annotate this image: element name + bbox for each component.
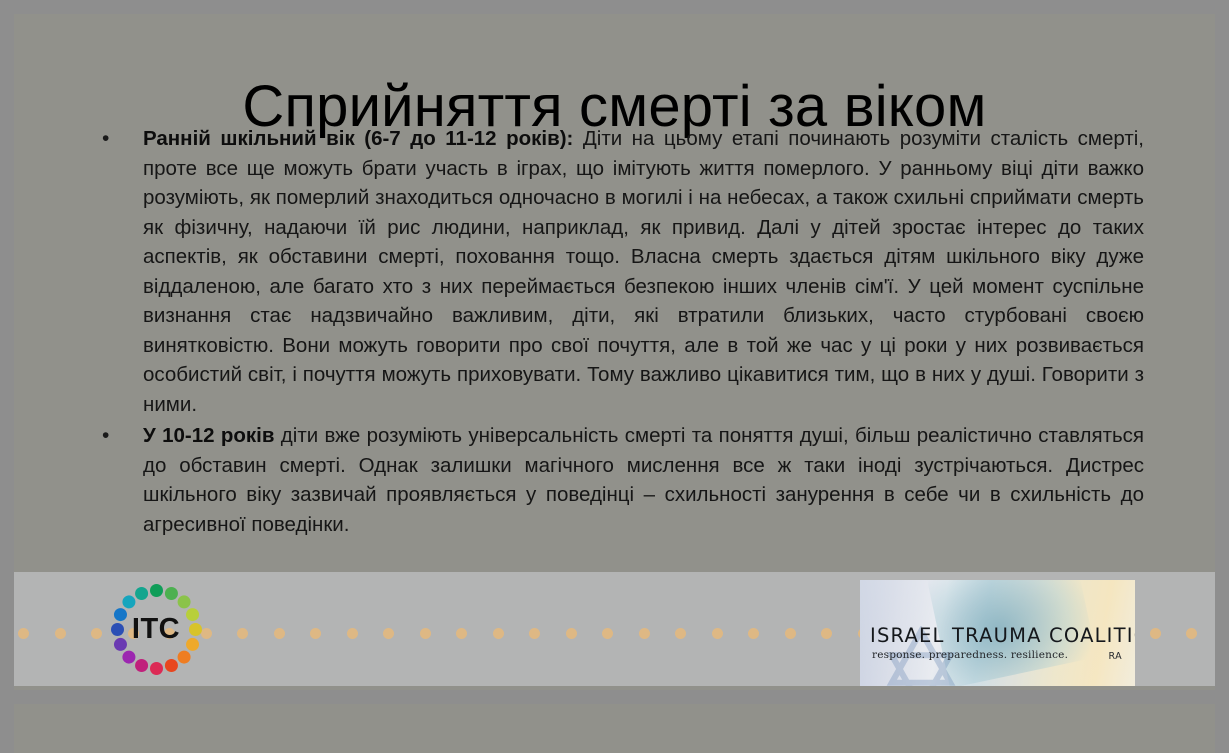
dot (602, 628, 613, 639)
dot (18, 628, 29, 639)
dot (639, 628, 650, 639)
bullet-item-early-school-age: • Ранній шкільний вік (6-7 до 11-12 рокі… (89, 124, 1144, 419)
bullet-paragraph: У 10-12 років діти вже розуміють універс… (143, 421, 1144, 539)
bullet-item-ten-to-twelve: • У 10-12 років діти вже розуміють уніве… (89, 421, 1144, 539)
israel-trauma-coalition-logo: ISRAEL TRAUMA COALITION response. prepar… (860, 580, 1135, 686)
bullet-marker-icon: • (89, 124, 143, 154)
itc-logo: ITC (104, 577, 208, 681)
itc-wordmark: ITC (104, 577, 208, 681)
bullet-body-text: Діти на цьому етапі починають розуміти с… (143, 127, 1144, 416)
dot (310, 628, 321, 639)
dot (821, 628, 832, 639)
slide-next-preview[interactable] (14, 704, 1215, 753)
dot (493, 628, 504, 639)
bullet-paragraph: Ранній шкільний вік (6-7 до 11-12 років)… (143, 124, 1144, 419)
coalition-tagline: response. preparedness. resilience. (872, 649, 1068, 661)
dot (566, 628, 577, 639)
dot (456, 628, 467, 639)
slide-current[interactable]: Сприйняття смерті за віком • Ранній шкіл… (14, 14, 1215, 690)
slide-footer: ITC ISRAEL TRAUMA COALITION response. pr… (14, 572, 1215, 686)
dot (91, 628, 102, 639)
dot (675, 628, 686, 639)
coalition-title: ISRAEL TRAUMA COALITION (870, 624, 1125, 647)
dot (785, 628, 796, 639)
slide-body: • Ранній шкільний вік (6-7 до 11-12 рокі… (89, 124, 1144, 541)
bullet-lead-in: У 10-12 років (143, 424, 274, 447)
bullet-lead-in: Ранній шкільний вік (6-7 до 11-12 років)… (143, 127, 573, 150)
bullet-body-text: діти вже розуміють універсальність смерт… (143, 424, 1144, 536)
dot (347, 628, 358, 639)
dot (529, 628, 540, 639)
dot (1186, 628, 1197, 639)
dot (383, 628, 394, 639)
dot (55, 628, 66, 639)
dot (712, 628, 723, 639)
dot (748, 628, 759, 639)
bullet-marker-icon: • (89, 421, 143, 451)
dot (420, 628, 431, 639)
dot (237, 628, 248, 639)
dot (1150, 628, 1161, 639)
dot (274, 628, 285, 639)
coalition-ra-mark: RA (1108, 651, 1122, 662)
